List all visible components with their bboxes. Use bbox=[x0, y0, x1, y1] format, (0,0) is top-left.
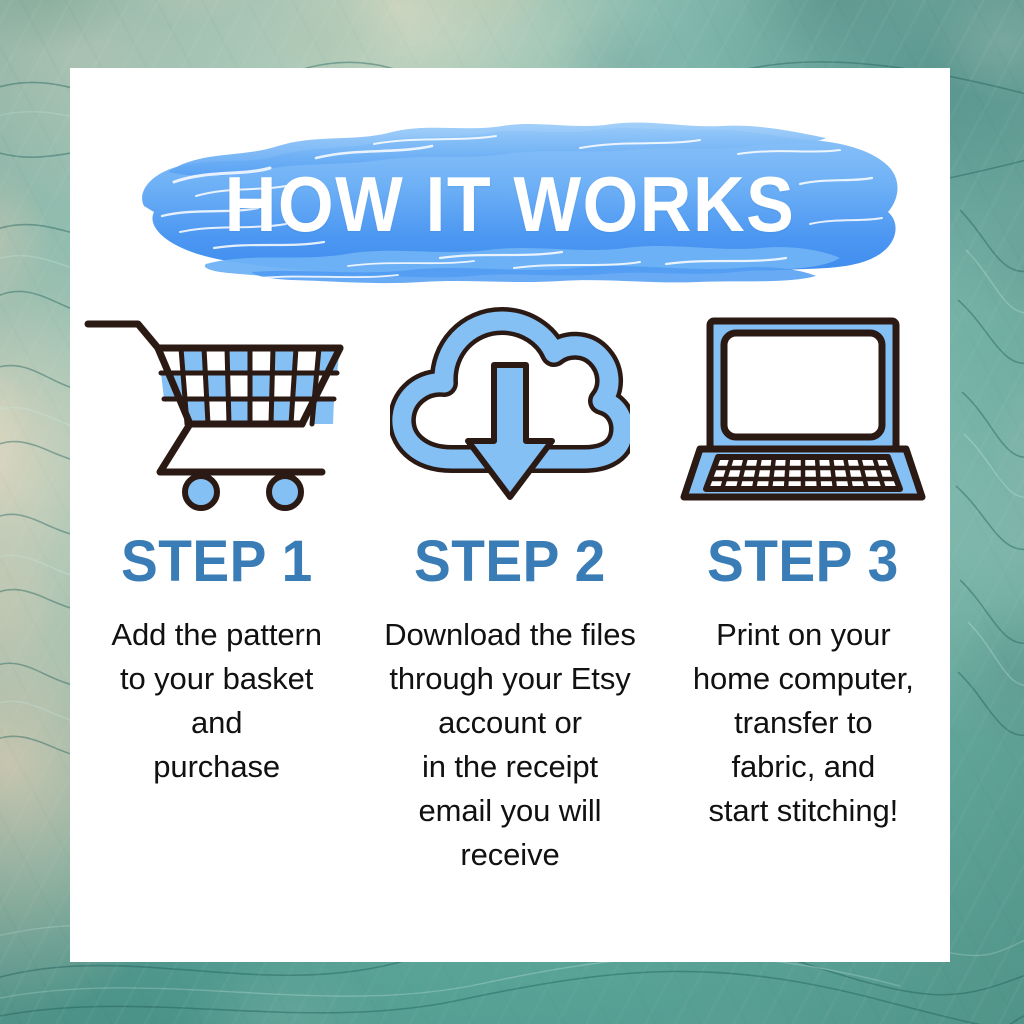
graphic-stage: HOW IT WORKS bbox=[0, 0, 1024, 1024]
step-heading: STEP 3 bbox=[707, 533, 899, 591]
step-heading: STEP 2 bbox=[414, 533, 606, 591]
step-description: Download the files through your Etsy acc… bbox=[370, 613, 650, 877]
cloud-download-icon bbox=[390, 296, 630, 511]
step-column-2: STEP 2 Download the files through your E… bbox=[363, 296, 656, 877]
info-card: HOW IT WORKS bbox=[70, 68, 950, 962]
title-banner: HOW IT WORKS bbox=[110, 120, 910, 288]
step-column-1: STEP 1 Add the pattern to your basket an… bbox=[70, 296, 363, 877]
laptop-icon bbox=[678, 296, 928, 511]
steps-row: STEP 1 Add the pattern to your basket an… bbox=[70, 296, 950, 877]
step-description: Print on your home computer, transfer to… bbox=[679, 613, 928, 833]
step-description: Add the pattern to your basket and purch… bbox=[97, 613, 336, 789]
step-heading: STEP 1 bbox=[121, 533, 313, 591]
page-title: HOW IT WORKS bbox=[142, 120, 878, 288]
shopping-cart-icon bbox=[82, 296, 352, 511]
step-column-3: STEP 3 Print on your home computer, tran… bbox=[657, 296, 950, 877]
